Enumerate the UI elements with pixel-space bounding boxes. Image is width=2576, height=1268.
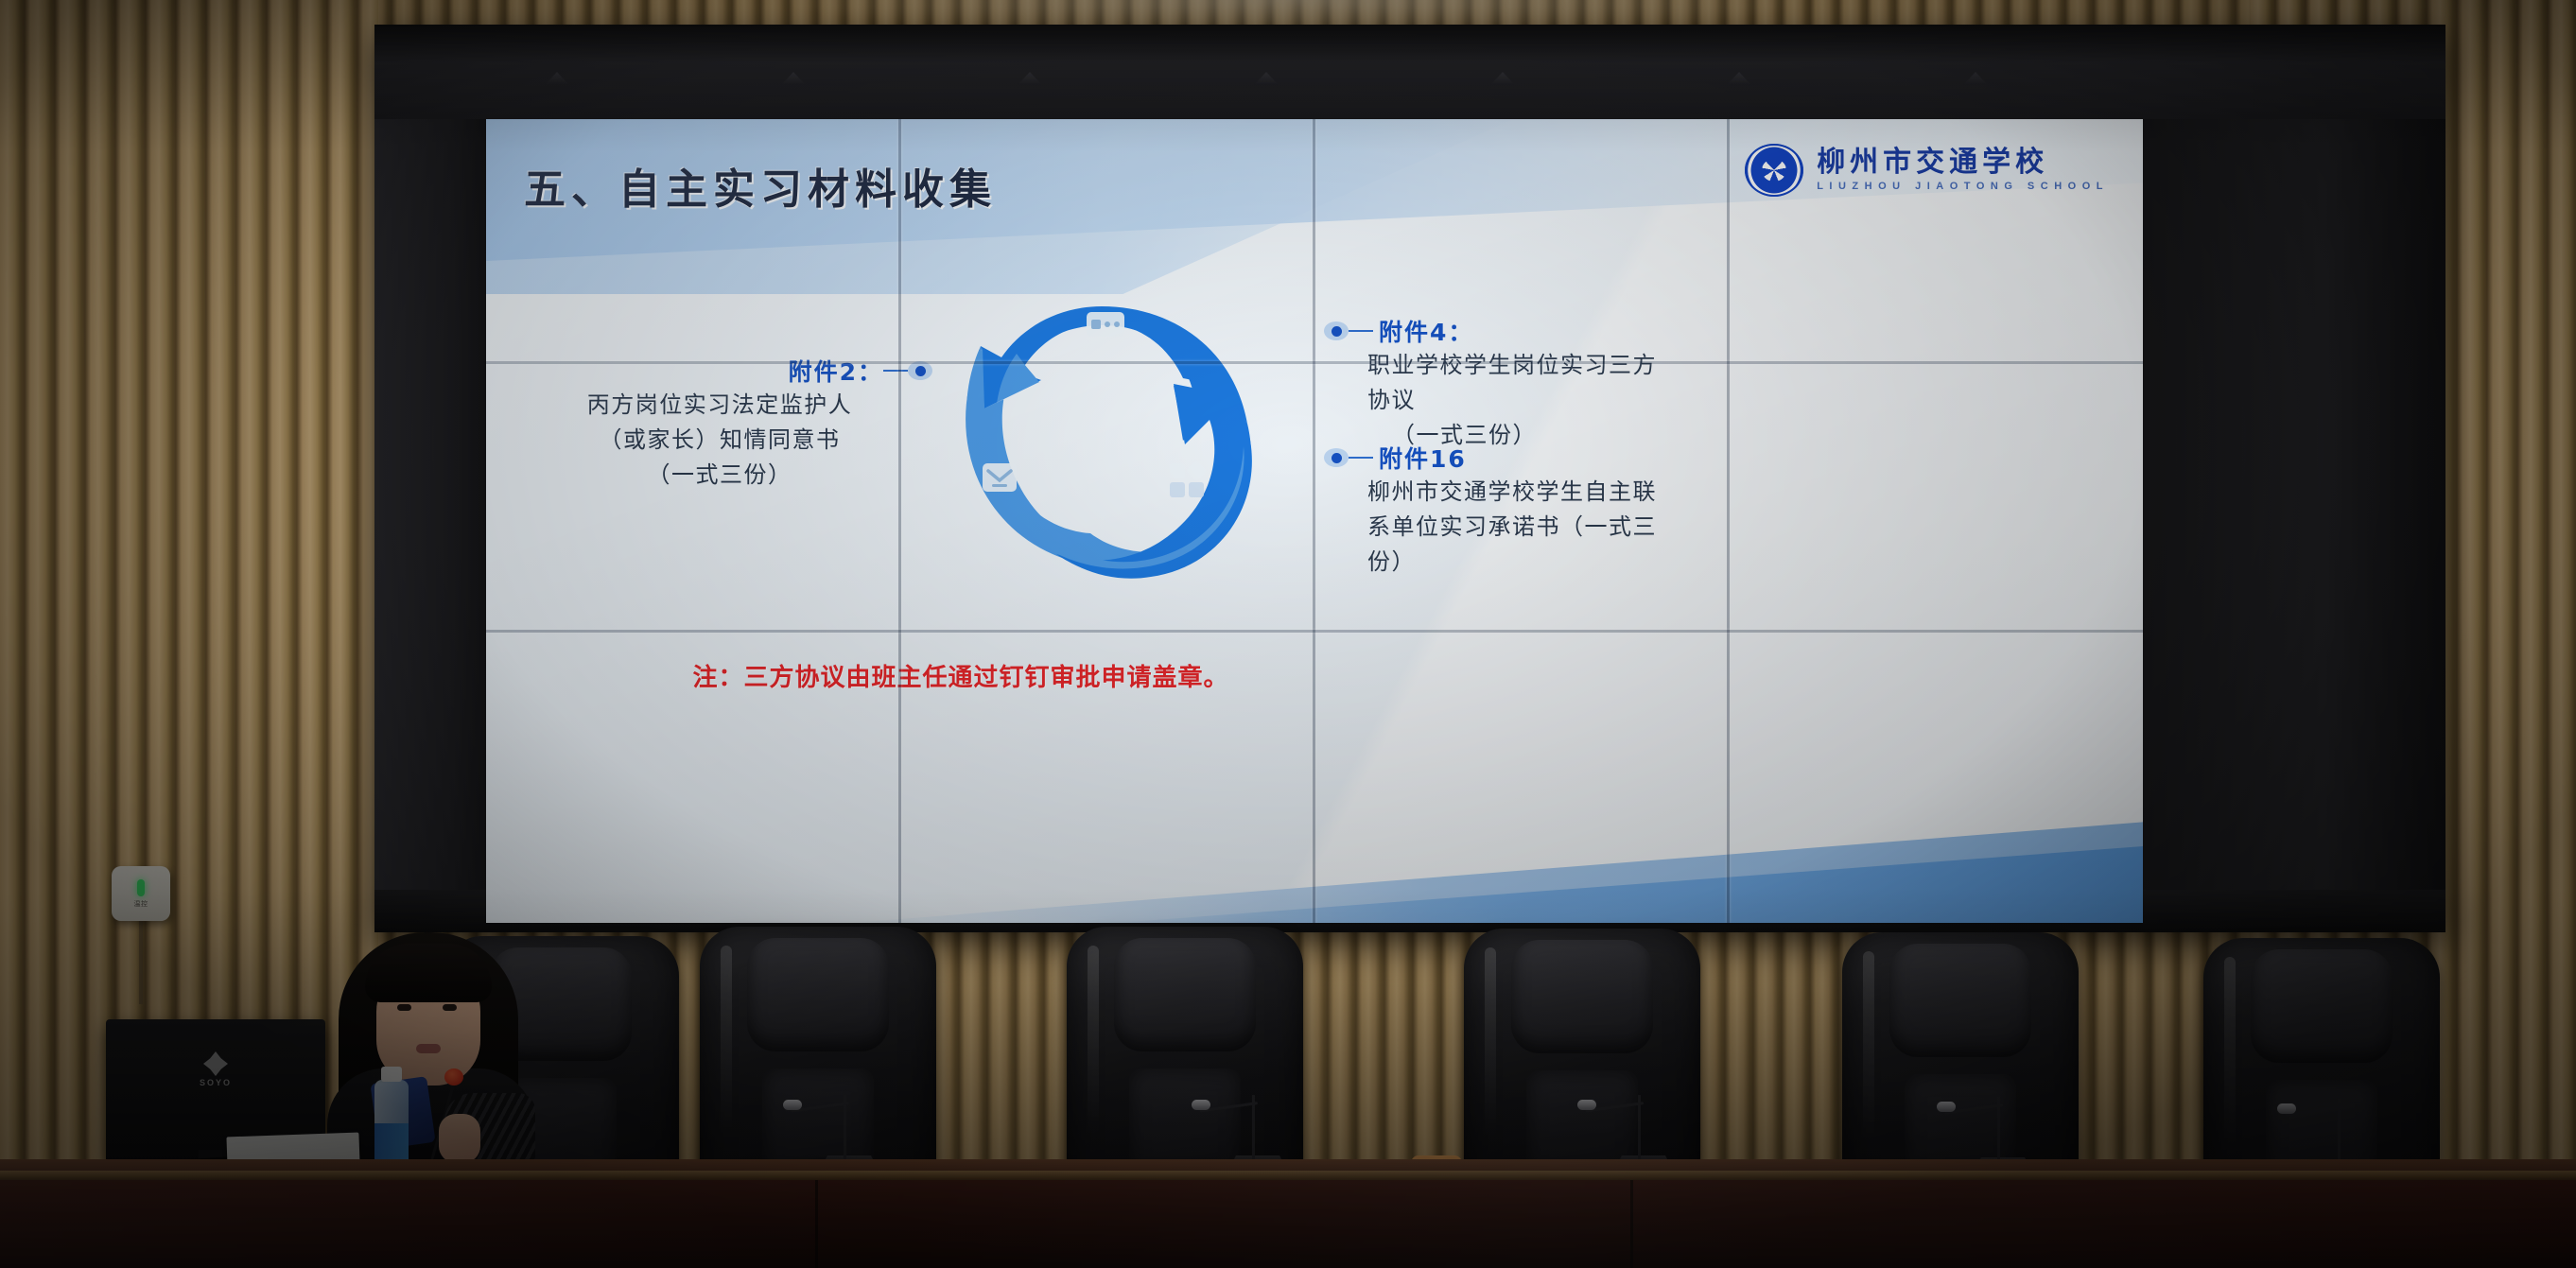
video-wall-right-bezel xyxy=(2143,119,2445,932)
video-wall-top-bezel xyxy=(374,25,2445,119)
table-microphone xyxy=(794,1068,908,1172)
presenter-mouth xyxy=(416,1044,441,1053)
table-microphone xyxy=(1589,1068,1702,1172)
presenter-hand xyxy=(439,1114,480,1163)
screen-glare xyxy=(486,119,2143,923)
presenter-eye-left xyxy=(397,1004,411,1011)
video-wall-frame: 五、自主实习材料收集 柳州市交通学校 LIUZHOU JIAOTONG SCHO… xyxy=(374,25,2445,932)
table-microphone xyxy=(1203,1068,1316,1172)
presenter-eye-right xyxy=(443,1004,457,1011)
conference-room-scene: 五、自主实习材料收集 柳州市交通学校 LIUZHOU JIAOTONG SCHO… xyxy=(0,0,2576,1268)
wall-sensor[interactable]: 温控 xyxy=(112,866,170,921)
soyo-logo-icon xyxy=(203,1051,228,1076)
handheld-microphone-icon xyxy=(444,1068,463,1086)
conference-table-front xyxy=(0,1180,2576,1268)
sensor-led-icon xyxy=(137,879,145,896)
video-wall-left-bezel xyxy=(374,119,486,932)
monitor-brand-label: SOYO xyxy=(200,1078,232,1087)
sensor-label: 温控 xyxy=(134,899,148,909)
presenter xyxy=(333,927,531,1172)
water-bottle xyxy=(374,1080,409,1171)
sensor-stem xyxy=(139,921,143,1004)
presenter-bangs xyxy=(365,944,492,1002)
video-wall-screen[interactable]: 五、自主实习材料收集 柳州市交通学校 LIUZHOU JIAOTONG SCHO… xyxy=(486,119,2143,923)
